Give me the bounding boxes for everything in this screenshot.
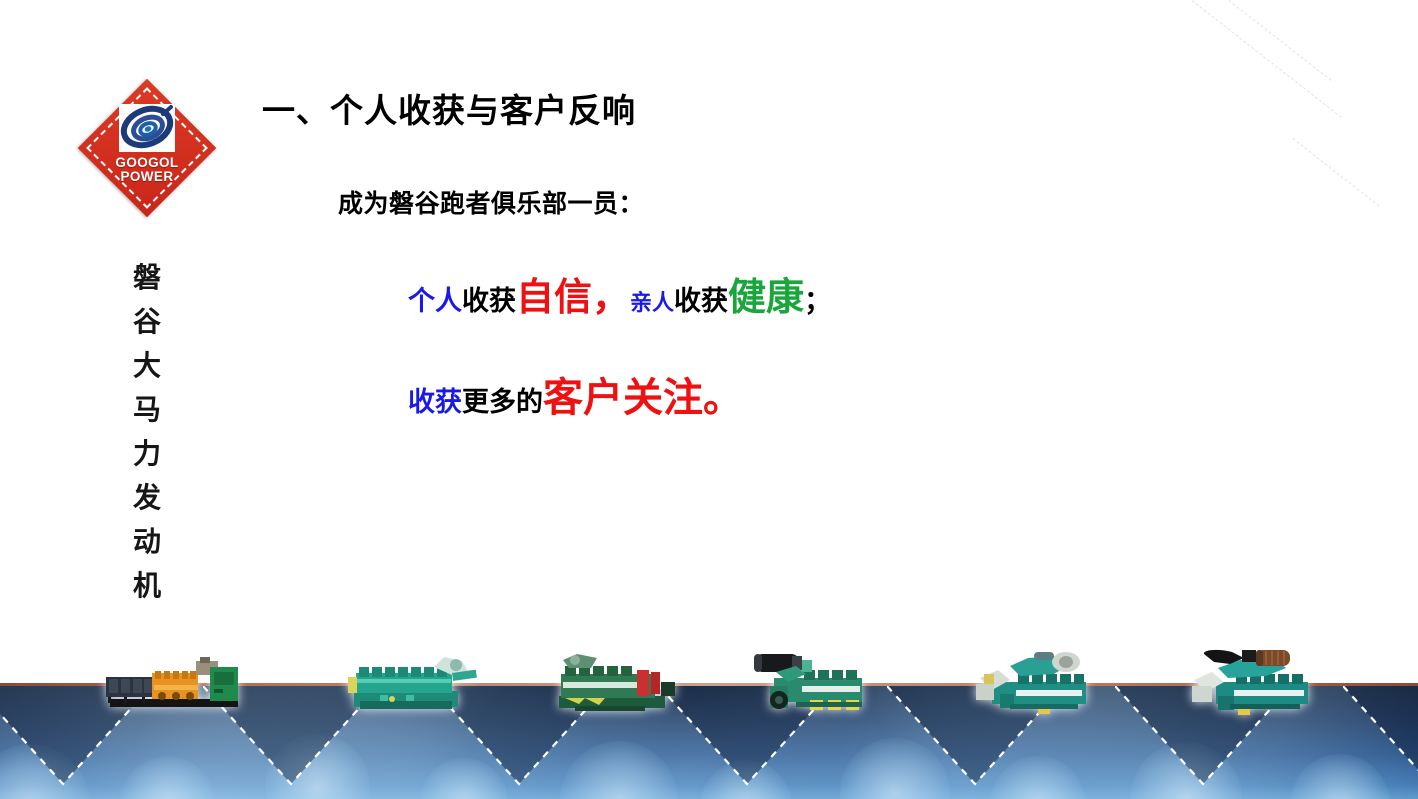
brand-block: GOOGOL POWER 磐 谷 大 马 力 发 动 机 (62, 78, 232, 598)
subheading: 成为磐谷跑者俱乐部一员： (338, 184, 1342, 220)
brand-char-7: 机 (62, 564, 232, 608)
text-segment: 收获 (408, 387, 462, 418)
text-segment: 收获 (462, 286, 516, 317)
bokeh-circle (1290, 754, 1390, 799)
text-segment: 收获 (674, 286, 728, 317)
brand-char-0: 磐 (62, 256, 232, 300)
slide-content: 一、个人收获与客户反响 成为磐谷跑者俱乐部一员： 个人收获自信，亲人收获健康； … (262, 84, 1342, 420)
logo-text-power: POWER (77, 170, 217, 184)
text-segment: 亲人 (630, 290, 674, 316)
banner-background (0, 686, 1418, 799)
slide-canvas: GOOGOL POWER 磐 谷 大 马 力 发 动 机 一、个人收获与客户反响… (0, 0, 1418, 799)
brand-char-5: 发 (62, 476, 232, 520)
logo-swirl-panel (119, 104, 175, 152)
product-banner (0, 683, 1418, 799)
brand-vertical-text: 磐 谷 大 马 力 发 动 机 (62, 256, 232, 608)
bokeh-circle (560, 741, 678, 799)
bokeh-circle (840, 738, 950, 799)
highlight-line-2: 收获更多的客户关注。 (408, 376, 1342, 420)
decor-diagonal-line-1 (1228, 0, 1331, 81)
spiral-icon (119, 104, 175, 152)
text-segment: ； (804, 286, 831, 317)
text-segment: 健康 (728, 274, 804, 319)
text-segment: 客户关注。 (543, 374, 743, 421)
bokeh-circle (420, 758, 508, 799)
bokeh-circle (265, 734, 370, 799)
bokeh-circle (1130, 742, 1242, 799)
bokeh-circle (120, 756, 215, 799)
brand-char-2: 大 (62, 344, 232, 388)
text-segment: 个人 (408, 286, 462, 317)
bokeh-circle (700, 760, 792, 799)
googol-power-logo: GOOGOL POWER (77, 78, 217, 218)
text-segment: 自信 (516, 274, 592, 319)
text-segment: 更多的 (462, 387, 543, 418)
bokeh-circle (990, 756, 1086, 799)
page-title: 一、个人收获与客户反响 (262, 84, 1342, 132)
text-segment: ， (592, 274, 630, 319)
brand-char-3: 马 (62, 388, 232, 432)
highlight-line-1: 个人收获自信，亲人收获健康； (408, 276, 1342, 318)
brand-char-4: 力 (62, 432, 232, 476)
brand-char-1: 谷 (62, 300, 232, 344)
logo-text-googol: GOOGOL (77, 156, 217, 170)
bokeh-circle (0, 744, 90, 799)
brand-char-6: 动 (62, 520, 232, 564)
